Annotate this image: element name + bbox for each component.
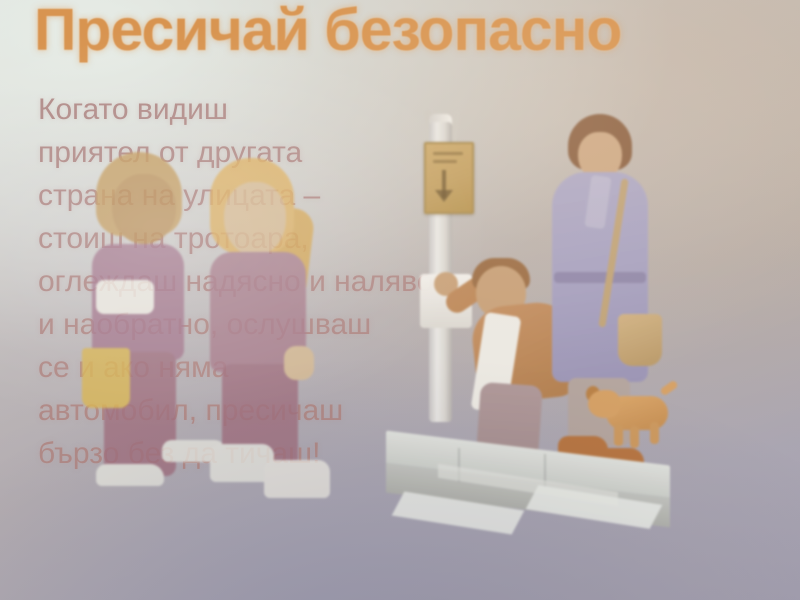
dog-leg xyxy=(630,426,639,448)
woman-shoulder-bag xyxy=(618,314,662,366)
body-line: Когато видиш xyxy=(38,88,398,131)
child-blonde-face xyxy=(224,182,286,256)
sign-text-line xyxy=(433,152,463,155)
child-dark-hair-shoe xyxy=(96,464,164,486)
crossing-sign xyxy=(424,142,474,214)
slide-title: Пресичай безопасно xyxy=(34,0,621,64)
foreground-children xyxy=(78,152,338,472)
child-blonde-hand xyxy=(284,346,314,380)
sign-text-line xyxy=(433,160,457,163)
child-dark-hair-sleeve xyxy=(96,280,154,314)
dog-leg xyxy=(614,424,623,446)
child-dark-hair-face xyxy=(112,174,176,244)
dog-tail xyxy=(659,380,678,397)
projected-slide-photo: Пресичай безопасно Когато видиш приятел … xyxy=(0,0,800,600)
crossing-illustration xyxy=(382,96,682,526)
child-blonde-boot xyxy=(264,460,330,498)
sign-arrow-icon xyxy=(442,170,446,198)
woman-coat-belt xyxy=(554,272,646,283)
dog-leg xyxy=(650,422,659,444)
dog-head xyxy=(588,390,620,418)
child-dark-hair-bag xyxy=(82,348,130,408)
